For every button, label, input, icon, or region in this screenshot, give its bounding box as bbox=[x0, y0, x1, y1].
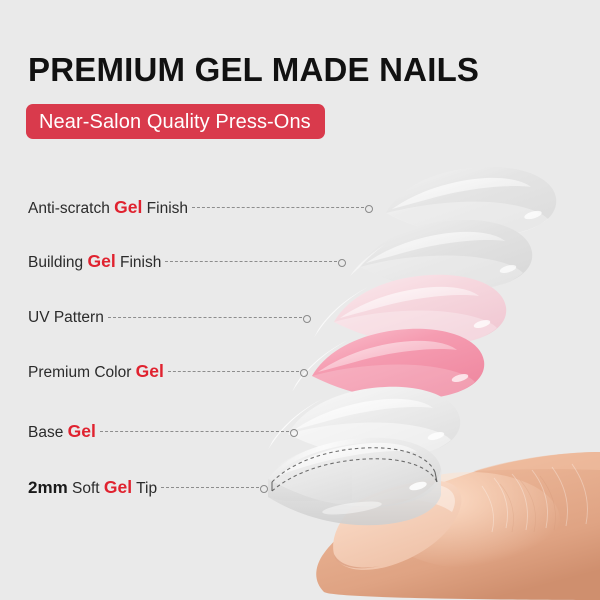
building-gel-finish-layer bbox=[350, 220, 532, 291]
callout-leader-line bbox=[161, 487, 259, 489]
callout-2mm-soft-gel-tip: 2mm Soft Gel Tip bbox=[28, 477, 259, 499]
product-infographic-poster: PREMIUM GEL MADE NAILS Near-Salon Qualit… bbox=[0, 0, 600, 600]
callout-leader-line bbox=[168, 371, 299, 373]
premium-color-gel-layer bbox=[292, 329, 484, 400]
fingertip-with-natural-nail bbox=[316, 452, 600, 600]
callout-leader-line bbox=[108, 317, 302, 319]
callout-endpoint-marker bbox=[260, 485, 268, 493]
callout-leader-line bbox=[165, 261, 337, 263]
base-gel-layer bbox=[268, 387, 460, 458]
callout-endpoint-marker bbox=[303, 315, 311, 323]
page-title: PREMIUM GEL MADE NAILS bbox=[28, 51, 479, 89]
callout-leader-line bbox=[192, 207, 364, 209]
callout-premium-color-gel: Premium Color Gel bbox=[28, 361, 299, 383]
exploded-nail-layer-stack-illustration bbox=[0, 0, 600, 600]
callout-label: Anti-scratch Gel Finish bbox=[28, 196, 188, 220]
callout-label: Base Gel bbox=[28, 420, 96, 444]
callout-uv-pattern: UV Pattern bbox=[28, 307, 302, 329]
soft-gel-tip-layer bbox=[268, 438, 441, 525]
callout-endpoint-marker bbox=[290, 429, 298, 437]
callout-label: 2mm Soft Gel Tip bbox=[28, 476, 157, 500]
callout-endpoint-marker bbox=[300, 369, 308, 377]
subtitle-badge-label: Near-Salon Quality Press-Ons bbox=[39, 112, 311, 132]
callout-label: Building Gel Finish bbox=[28, 250, 161, 274]
callout-label: Premium Color Gel bbox=[28, 360, 164, 384]
callout-endpoint-marker bbox=[338, 259, 346, 267]
callout-anti-scratch-gel-finish: Anti-scratch Gel Finish bbox=[28, 197, 364, 219]
callout-endpoint-marker bbox=[365, 205, 373, 213]
callout-leader-line bbox=[100, 431, 289, 433]
anti-scratch-gel-finish-layer bbox=[386, 167, 556, 237]
callout-label: UV Pattern bbox=[28, 307, 104, 329]
subtitle-badge: Near-Salon Quality Press-Ons bbox=[26, 104, 325, 139]
callout-building-gel-finish: Building Gel Finish bbox=[28, 251, 337, 273]
uv-pattern-layer bbox=[314, 275, 506, 346]
callout-base-gel: Base Gel bbox=[28, 421, 289, 443]
